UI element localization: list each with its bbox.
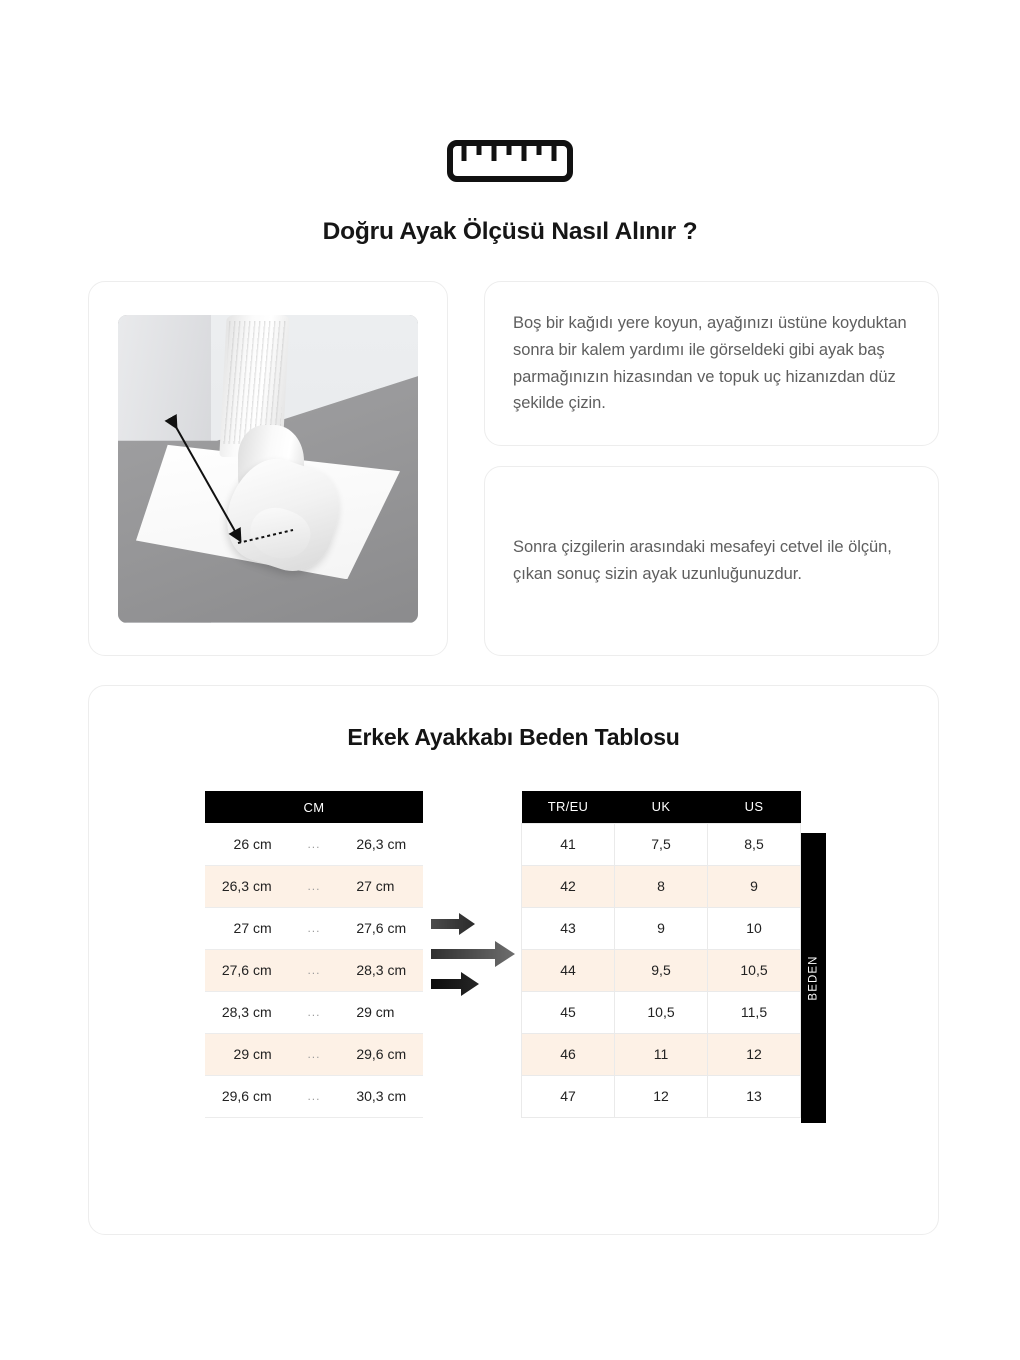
size-guide-page: Doğru Ayak Ölçüsü Nasıl Alınır ? (0, 0, 1020, 1360)
size-cell: 11,5 (708, 991, 801, 1033)
table-row: 27,6 cm...28,3 cm (205, 949, 423, 991)
cm-from-value: 28,3 cm (205, 991, 278, 1033)
size-cell: 45 (522, 991, 615, 1033)
cm-table-body: 26 cm...26,3 cm26,3 cm...27 cm27 cm...27… (205, 823, 423, 1117)
size-cell: 46 (522, 1033, 615, 1075)
cm-range-table: CM 26 cm...26,3 cm26,3 cm...27 cm27 cm..… (205, 791, 423, 1118)
size-cell: 13 (708, 1075, 801, 1117)
page-title: Doğru Ayak Ölçüsü Nasıl Alınır ? (0, 218, 1020, 246)
triple-right-arrows-icon (429, 909, 529, 1004)
cm-from-value: 27 cm (205, 907, 278, 949)
cm-range-separator: ... (278, 1075, 351, 1117)
cm-to-value: 30,3 cm (350, 1075, 423, 1117)
table-row: 26,3 cm...27 cm (205, 865, 423, 907)
beden-label: BEDEN (808, 955, 820, 1000)
size-chart-title: Erkek Ayakkabı Beden Tablosu (89, 724, 938, 751)
size-cell: 12 (708, 1033, 801, 1075)
size-table-column-header: US (708, 791, 801, 823)
size-cell: 7,5 (615, 823, 708, 865)
cm-range-separator: ... (278, 823, 351, 865)
cm-to-value: 29 cm (350, 991, 423, 1033)
foot-measurement-photo-card (88, 281, 448, 656)
instructions-section: Boş bir kağıdı yere koyun, ayağınızı üst… (88, 281, 939, 656)
cm-from-value: 27,6 cm (205, 949, 278, 991)
size-cell: 10 (708, 907, 801, 949)
size-cell: 8,5 (708, 823, 801, 865)
table-row: 29,6 cm...30,3 cm (205, 1075, 423, 1117)
size-table-column-header: TR/EU (522, 791, 615, 823)
cm-to-value: 27 cm (350, 865, 423, 907)
table-row: 4510,511,5 (522, 991, 801, 1033)
cm-from-value: 26 cm (205, 823, 278, 865)
shoe-size-table: TR/EUUKUS 417,58,5428943910449,510,54510… (521, 791, 801, 1118)
measurement-arrow-icon (118, 315, 418, 623)
beden-side-bar: BEDEN (801, 833, 826, 1123)
instruction-card-1: Boş bir kağıdı yere koyun, ayağınızı üst… (484, 281, 939, 446)
size-cell: 8 (615, 865, 708, 907)
size-cell: 41 (522, 823, 615, 865)
size-table-body: 417,58,5428943910449,510,54510,511,54611… (522, 823, 801, 1117)
size-cell: 9,5 (615, 949, 708, 991)
foot-measurement-photo (118, 315, 418, 623)
size-cell: 43 (522, 907, 615, 949)
ruler-icon-container (0, 140, 1020, 182)
size-cell: 47 (522, 1075, 615, 1117)
table-row: 417,58,5 (522, 823, 801, 865)
size-chart-card: Erkek Ayakkabı Beden Tablosu CM 26 cm...… (88, 685, 939, 1235)
instruction-text-2: Sonra çizgilerin arasındaki mesafeyi cet… (485, 534, 938, 587)
instruction-card-2: Sonra çizgilerin arasındaki mesafeyi cet… (484, 466, 939, 656)
size-table-column-header: UK (615, 791, 708, 823)
size-cell: 9 (708, 865, 801, 907)
size-table-header-row: TR/EUUKUS (522, 791, 801, 823)
table-row: 4289 (522, 865, 801, 907)
cm-table-header: CM (205, 791, 423, 823)
cm-to-value: 26,3 cm (350, 823, 423, 865)
table-row: 26 cm...26,3 cm (205, 823, 423, 865)
cm-to-value: 29,6 cm (350, 1033, 423, 1075)
table-row: 449,510,5 (522, 949, 801, 991)
instruction-text-1: Boş bir kağıdı yere koyun, ayağınızı üst… (485, 310, 938, 417)
cm-range-separator: ... (278, 949, 351, 991)
size-cell: 12 (615, 1075, 708, 1117)
size-tables-area: CM 26 cm...26,3 cm26,3 cm...27 cm27 cm..… (89, 791, 940, 1131)
cm-from-value: 26,3 cm (205, 865, 278, 907)
cm-to-value: 28,3 cm (350, 949, 423, 991)
size-cell: 10,5 (615, 991, 708, 1033)
size-cell: 44 (522, 949, 615, 991)
table-row: 471213 (522, 1075, 801, 1117)
table-row: 43910 (522, 907, 801, 949)
size-cell: 42 (522, 865, 615, 907)
size-cell: 10,5 (708, 949, 801, 991)
table-row: 461112 (522, 1033, 801, 1075)
table-row: 29 cm...29,6 cm (205, 1033, 423, 1075)
table-row: 27 cm...27,6 cm (205, 907, 423, 949)
cm-table-header-row: CM (205, 791, 423, 823)
cm-range-separator: ... (278, 865, 351, 907)
table-row: 28,3 cm...29 cm (205, 991, 423, 1033)
size-cell: 11 (615, 1033, 708, 1075)
cm-range-separator: ... (278, 991, 351, 1033)
cm-from-value: 29,6 cm (205, 1075, 278, 1117)
cm-range-separator: ... (278, 1033, 351, 1075)
size-cell: 9 (615, 907, 708, 949)
cm-from-value: 29 cm (205, 1033, 278, 1075)
cm-to-value: 27,6 cm (350, 907, 423, 949)
cm-range-separator: ... (278, 907, 351, 949)
ruler-icon (447, 140, 573, 182)
